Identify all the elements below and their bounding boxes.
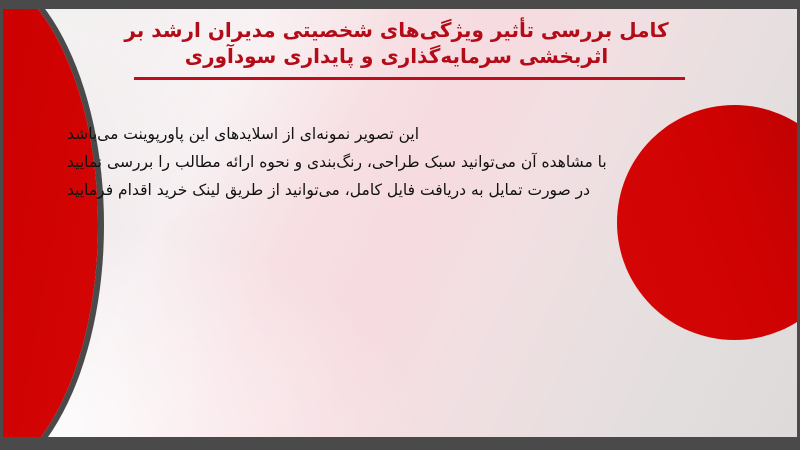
slide-title: کامل بررسی تأثیر ویژگی‌های شخصیتی مدیران… xyxy=(104,17,689,69)
slide-frame-left xyxy=(0,0,3,450)
body-line-1: این تصویر نمونه‌ای از اسلایدهای این پاور… xyxy=(67,120,727,148)
body-line-3: در صورت تمایل به دریافت فایل کامل، می‌تو… xyxy=(67,176,727,204)
title-line-1: کامل بررسی تأثیر ویژگی‌های شخصیتی مدیران… xyxy=(104,17,689,43)
slide-frame-top xyxy=(0,0,800,9)
slide-body-text: این تصویر نمونه‌ای از اسلایدهای این پاور… xyxy=(67,120,727,204)
title-underline xyxy=(134,77,685,80)
presentation-slide: کامل بررسی تأثیر ویژگی‌های شخصیتی مدیران… xyxy=(0,0,800,450)
title-line-2: اثربخشی سرمایه‌گذاری و پایداری سودآوری xyxy=(104,43,689,69)
slide-frame-bottom xyxy=(0,437,800,450)
body-line-2: با مشاهده آن می‌توانید سبک طراحی، رنگ‌بن… xyxy=(67,148,727,176)
background-arc-1 xyxy=(3,9,681,437)
